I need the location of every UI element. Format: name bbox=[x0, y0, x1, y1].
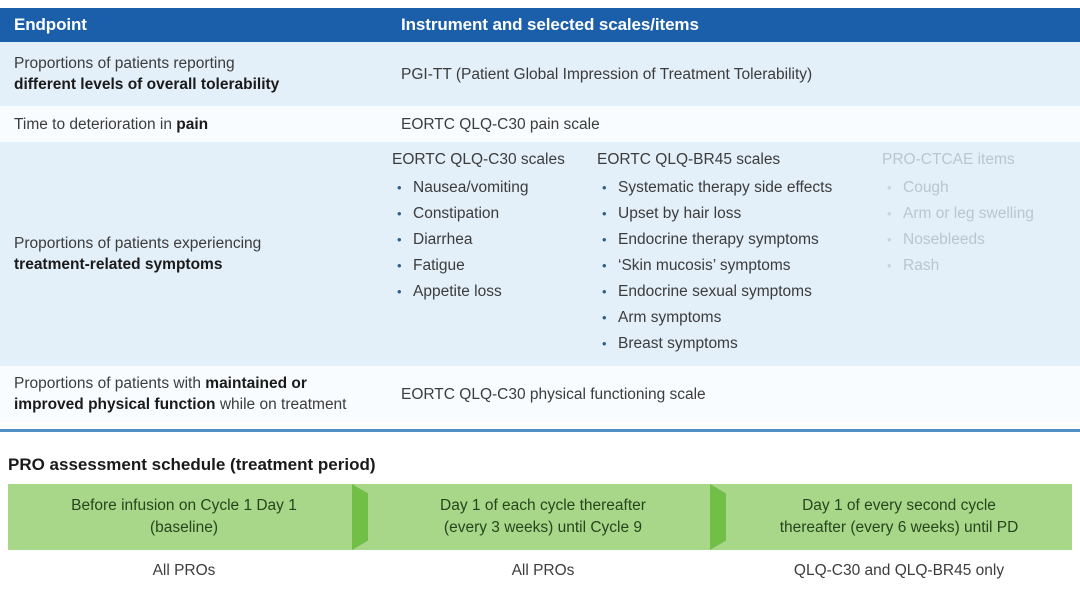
pro-assessment-schedule: PRO assessment schedule (treatment perio… bbox=[0, 455, 1080, 592]
list-item: Endocrine therapy symptoms bbox=[597, 227, 882, 253]
instrument-cell: PGI-TT (Patient Global Impression of Tre… bbox=[396, 64, 1080, 85]
instrument-cell: EORTC QLQ-C30 scales Nausea/vomiting Con… bbox=[387, 142, 1080, 366]
scale-item-list: Nausea/vomiting Constipation Diarrhea Fa… bbox=[392, 175, 597, 305]
endpoint-text-plain: Time to deterioration in bbox=[14, 116, 176, 133]
schedule-segment-line2: (every 3 weeks) until Cycle 9 bbox=[440, 517, 646, 539]
endpoint-table: Endpoint Instrument and selected scales/… bbox=[0, 8, 1080, 422]
schedule-title: PRO assessment schedule (treatment perio… bbox=[0, 455, 1080, 475]
endpoint-text-plain: Proportions of patients reporting bbox=[14, 55, 235, 72]
schedule-footnote: All PROs bbox=[8, 558, 360, 584]
schedule-segment-text: Before infusion on Cycle 1 Day 1 (baseli… bbox=[71, 495, 297, 539]
endpoint-cell: Time to deterioration in pain bbox=[0, 114, 396, 135]
endpoint-cell: Proportions of patients reporting differ… bbox=[0, 53, 396, 95]
list-item: Appetite loss bbox=[392, 279, 597, 305]
list-item: Diarrhea bbox=[392, 227, 597, 253]
schedule-chevron-bar: Before infusion on Cycle 1 Day 1 (baseli… bbox=[0, 484, 1080, 550]
scale-group-title: PRO-CTCAE items bbox=[882, 150, 1072, 170]
scale-item-list: Systematic therapy side effects Upset by… bbox=[597, 175, 882, 357]
endpoint-text-bold: different levels of overall tolerability bbox=[14, 76, 279, 93]
list-item: Nosebleeds bbox=[882, 227, 1072, 253]
list-item: Nausea/vomiting bbox=[392, 175, 597, 201]
endpoint-text-bold: improved physical function bbox=[14, 396, 216, 413]
list-item: Systematic therapy side effects bbox=[597, 175, 882, 201]
schedule-footnote: QLQ-C30 and QLQ-BR45 only bbox=[726, 558, 1072, 584]
endpoint-text-plain: while on treatment bbox=[216, 396, 347, 413]
scale-item-list: Cough Arm or leg swelling Nosebleeds Ras… bbox=[882, 175, 1072, 279]
endpoint-text-bold: maintained or bbox=[205, 375, 307, 392]
table-header-row: Endpoint Instrument and selected scales/… bbox=[0, 8, 1080, 42]
scale-group-title: EORTC QLQ-C30 scales bbox=[392, 150, 597, 170]
schedule-segment-line2: (baseline) bbox=[71, 517, 297, 539]
list-item: Arm symptoms bbox=[597, 305, 882, 331]
schedule-segment-line2: thereafter (every 6 weeks) until PD bbox=[780, 517, 1019, 539]
schedule-segment-2: Day 1 of each cycle thereafter (every 3 … bbox=[368, 484, 718, 550]
endpoint-text-plain: Proportions of patients experiencing bbox=[14, 235, 261, 252]
schedule-segment-line1: Day 1 of every second cycle bbox=[780, 495, 1019, 517]
column-header-instrument: Instrument and selected scales/items bbox=[396, 15, 1080, 35]
schedule-segment-line1: Before infusion on Cycle 1 Day 1 bbox=[71, 495, 297, 517]
schedule-footnote-row: All PROs All PROs QLQ-C30 and QLQ-BR45 o… bbox=[0, 558, 1080, 592]
schedule-segment-line1: Day 1 of each cycle thereafter bbox=[440, 495, 646, 517]
list-item: Upset by hair loss bbox=[597, 201, 882, 227]
endpoint-text-bold: treatment-related symptoms bbox=[14, 256, 222, 273]
list-item: Arm or leg swelling bbox=[882, 201, 1072, 227]
endpoint-text-plain: Proportions of patients with bbox=[14, 375, 205, 392]
list-item: Breast symptoms bbox=[597, 331, 882, 357]
endpoint-cell: Proportions of patients with maintained … bbox=[0, 373, 396, 415]
endpoint-cell: Proportions of patients experiencing tre… bbox=[0, 142, 387, 366]
endpoint-text-bold: pain bbox=[176, 116, 208, 133]
table-row: Proportions of patients reporting differ… bbox=[0, 42, 1080, 106]
section-divider bbox=[0, 429, 1080, 432]
scale-group-title: EORTC QLQ-BR45 scales bbox=[597, 150, 882, 170]
list-item: Constipation bbox=[392, 201, 597, 227]
scale-group-qlq-br45: EORTC QLQ-BR45 scales Systematic therapy… bbox=[597, 150, 882, 366]
list-item: ‘Skin mucosis’ symptoms bbox=[597, 253, 882, 279]
list-item: Rash bbox=[882, 253, 1072, 279]
schedule-segment-text: Day 1 of each cycle thereafter (every 3 … bbox=[440, 495, 646, 539]
table-row: Time to deterioration in pain EORTC QLQ-… bbox=[0, 106, 1080, 142]
list-item: Fatigue bbox=[392, 253, 597, 279]
scale-group-pro-ctcae: PRO-CTCAE items Cough Arm or leg swellin… bbox=[882, 150, 1072, 366]
scale-group-qlq-c30: EORTC QLQ-C30 scales Nausea/vomiting Con… bbox=[392, 150, 597, 366]
table-row: Proportions of patients experiencing tre… bbox=[0, 142, 1080, 366]
schedule-footnote: All PROs bbox=[368, 558, 718, 584]
list-item: Cough bbox=[882, 175, 1072, 201]
list-item: Endocrine sexual symptoms bbox=[597, 279, 882, 305]
schedule-segment-text: Day 1 of every second cycle thereafter (… bbox=[780, 495, 1019, 539]
column-header-endpoint: Endpoint bbox=[0, 15, 396, 35]
instrument-cell: EORTC QLQ-C30 physical functioning scale bbox=[396, 384, 1080, 405]
table-row: Proportions of patients with maintained … bbox=[0, 366, 1080, 422]
schedule-segment-1: Before infusion on Cycle 1 Day 1 (baseli… bbox=[8, 484, 360, 550]
schedule-segment-3: Day 1 of every second cycle thereafter (… bbox=[726, 484, 1072, 550]
instrument-cell: EORTC QLQ-C30 pain scale bbox=[396, 114, 1080, 135]
